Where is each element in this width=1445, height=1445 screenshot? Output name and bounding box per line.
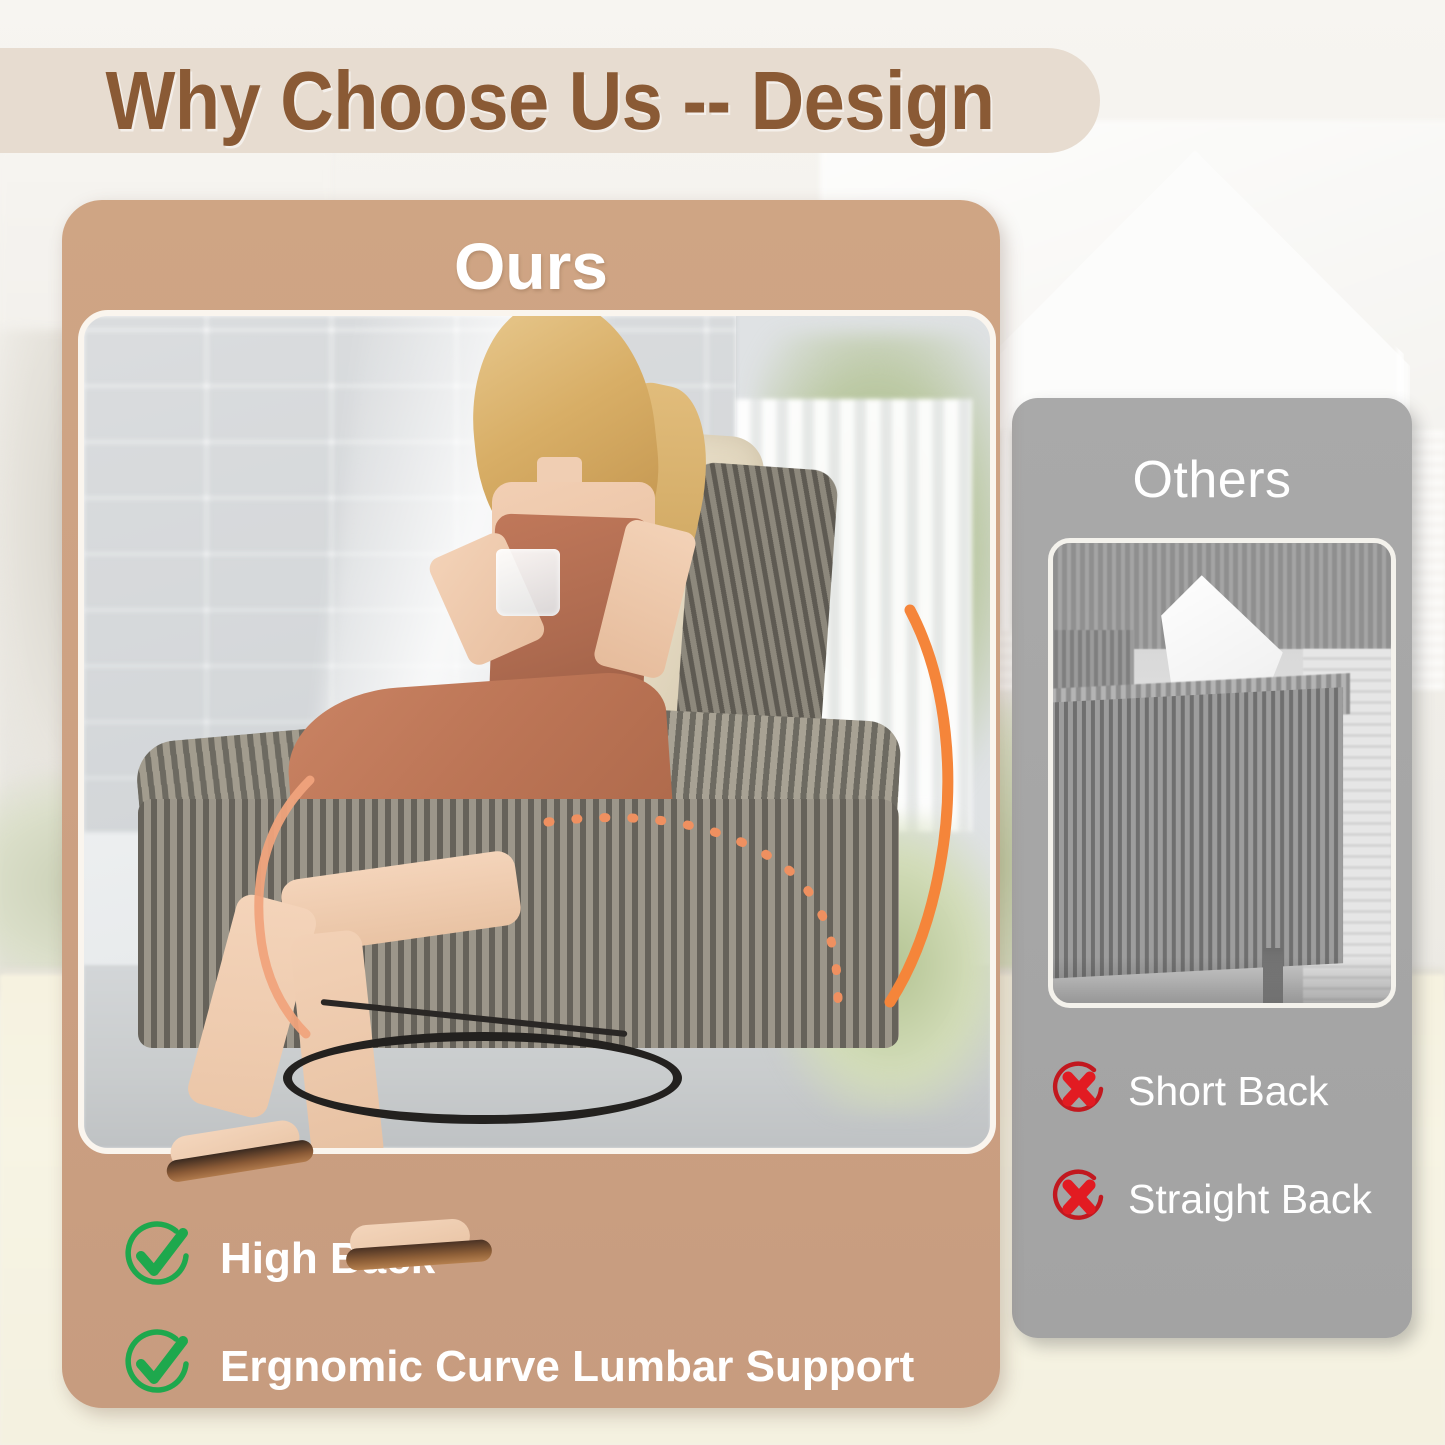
- others-title: Others: [1012, 450, 1412, 510]
- check-circle-icon: [120, 1326, 196, 1407]
- ours-title: Ours: [62, 228, 1000, 304]
- person-drink-glass: [496, 549, 559, 616]
- ours-bullet-lumbar-support: Ergnomic Curve Lumbar Support: [120, 1326, 914, 1407]
- ours-bullet-label: Ergnomic Curve Lumbar Support: [220, 1342, 914, 1392]
- others-bullet-label: Straight Back: [1128, 1176, 1372, 1223]
- others-bullet-short-back: Short Back: [1048, 1058, 1329, 1125]
- check-circle-icon: [120, 1218, 196, 1299]
- page-title: Why Choose Us -- Design: [106, 53, 995, 148]
- ours-bullet-label: High Back: [220, 1234, 435, 1284]
- ours-panel: Ours: [62, 200, 1000, 1408]
- others-photo-shadow: [1053, 957, 1391, 1003]
- ours-bullet-high-back: High Back: [120, 1218, 435, 1299]
- others-sofa-seat: [1048, 687, 1344, 979]
- others-product-photo: [1048, 538, 1396, 1008]
- ours-photo-inner: [84, 316, 990, 1148]
- x-circle-icon: [1048, 1166, 1110, 1233]
- chair-swivel-base: [283, 1032, 682, 1125]
- others-bullet-straight-back: Straight Back: [1048, 1166, 1372, 1233]
- others-bullet-label: Short Back: [1128, 1068, 1329, 1115]
- header-banner: Why Choose Us -- Design: [0, 48, 1100, 153]
- others-panel: Others Short Back Straight: [1012, 398, 1412, 1338]
- x-circle-icon: [1048, 1058, 1110, 1125]
- ours-product-photo: [78, 310, 996, 1154]
